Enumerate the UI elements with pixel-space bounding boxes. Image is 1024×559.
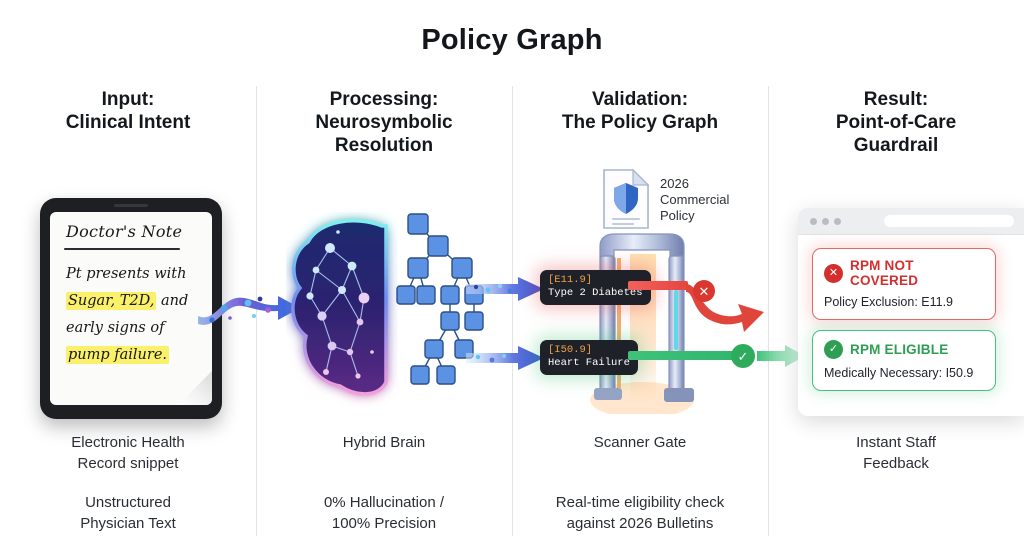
caption-top-validation: Scanner Gate xyxy=(512,432,768,453)
caption-bottom-processing: 0% Hallucination / 100% Precision xyxy=(256,492,512,534)
window-close-dot[interactable] xyxy=(810,218,817,225)
column-header-validation: Validation: The Policy Graph xyxy=(512,88,768,134)
x-circle-icon: ✕ xyxy=(824,264,843,283)
result-title-not-covered: RPM NOT COVERED xyxy=(850,258,984,288)
note-line-4: pump failure. xyxy=(66,347,169,363)
status-badge-approved: ✓ xyxy=(731,344,755,368)
column-header-processing: Processing: Neurosymbolic Resolution xyxy=(256,88,512,157)
result-card-not-covered: ✕ RPM NOT COVERED Policy Exclusion: E11.… xyxy=(812,248,996,320)
caption-bottom-input: Unstructured Physician Text xyxy=(0,492,256,534)
tablet-device: Doctor's Note Pt presents with Sugar, T2… xyxy=(40,198,222,419)
note-line-3: early signs of xyxy=(66,320,164,336)
window-maximize-dot[interactable] xyxy=(834,218,841,225)
scan-beam-rejected xyxy=(628,281,688,290)
result-subtitle-not-covered: Policy Exclusion: E11.9 xyxy=(824,295,984,309)
code-name-i509: Heart Failure xyxy=(548,357,630,369)
note-line-2: Sugar, T2D, and xyxy=(66,293,188,309)
result-card-header: ✓ RPM ELIGIBLE xyxy=(824,340,984,359)
scanner-gate-illustration xyxy=(586,228,698,414)
page-curl-corner xyxy=(178,371,212,405)
note-line-1: Pt presents with xyxy=(66,266,186,282)
note-title: Doctor's Note xyxy=(66,222,182,241)
decision-tree-illustration xyxy=(396,206,492,402)
browser-title-bar xyxy=(798,208,1024,235)
caption-top-processing: Hybrid Brain xyxy=(256,432,512,453)
note-underline xyxy=(64,248,180,250)
browser-window: ✕ RPM NOT COVERED Policy Exclusion: E11.… xyxy=(798,208,1024,416)
caption-bottom-validation: Real-time eligibility check against 2026… xyxy=(512,492,768,534)
hybrid-brain-illustration xyxy=(286,212,398,408)
column-header-input: Input: Clinical Intent xyxy=(0,88,256,134)
caption-top-result: Instant Staff Feedback xyxy=(768,432,1024,474)
column-header-result: Result: Point-of-Care Guardrail xyxy=(768,88,1024,157)
note-highlight-symptom: pump failure. xyxy=(66,346,169,364)
code-chip-i509: [I50.9] Heart Failure xyxy=(540,340,638,375)
code-value-i509: [I50.9] xyxy=(548,344,630,357)
flow-arrow-to-code-e119 xyxy=(466,276,544,302)
check-circle-icon: ✓ xyxy=(824,340,843,359)
window-minimize-dot[interactable] xyxy=(822,218,829,225)
result-card-eligible: ✓ RPM ELIGIBLE Medically Necessary: I50.… xyxy=(812,330,996,391)
policy-document-label: 2026 Commercial Policy xyxy=(660,176,750,224)
infographic-canvas: Policy Graph Input: Clinical Intent Proc… xyxy=(0,0,1024,559)
note-highlight-diagnosis: Sugar, T2D, xyxy=(66,292,156,310)
address-bar[interactable] xyxy=(884,215,1014,227)
result-card-header: ✕ RPM NOT COVERED xyxy=(824,258,984,288)
shield-document-icon xyxy=(600,168,652,230)
flow-arrow-rejected xyxy=(684,262,780,346)
column-divider-2 xyxy=(512,86,513,536)
status-badge-rejected: ✕ xyxy=(693,280,715,302)
result-title-eligible: RPM ELIGIBLE xyxy=(850,342,948,357)
result-subtitle-eligible: Medically Necessary: I50.9 xyxy=(824,366,984,380)
caption-top-input: Electronic Health Record snippet xyxy=(0,432,256,474)
page-title: Policy Graph xyxy=(0,24,1024,57)
tablet-screen: Doctor's Note Pt presents with Sugar, T2… xyxy=(50,212,212,405)
flow-arrow-to-code-i509 xyxy=(466,345,544,371)
note-line-2-rest: and xyxy=(156,293,188,309)
